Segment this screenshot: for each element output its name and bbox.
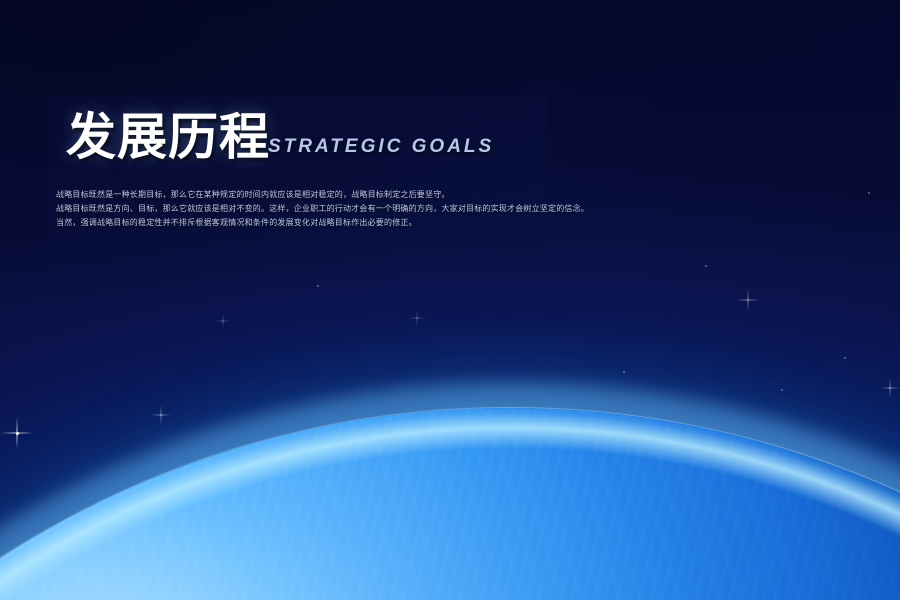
page-title: 发展历程: [66, 112, 270, 162]
earth-surface-texture: [0, 408, 900, 600]
body-line: 当然，强调战略目标的稳定性并不排斥根据客观情况和条件的发展变化对战略目标作出必要…: [56, 216, 556, 230]
headline-group: 发展历程 STRATEGIC GOALS: [66, 112, 494, 162]
earth-terminator-shadow: [0, 408, 900, 600]
earth-limb-glow: [0, 405, 900, 600]
earth-globe: [0, 408, 900, 600]
hero-banner: 发展历程 STRATEGIC GOALS 战略目标既然是一种长期目标，那么它在某…: [0, 0, 900, 600]
body-paragraph: 战略目标既然是一种长期目标，那么它在某种规定的时间内就应该是相对稳定的，战略目标…: [56, 188, 556, 230]
earth-scene: [0, 0, 900, 600]
earth-cloud-layer: [0, 408, 900, 600]
body-line: 战略目标既然是方向、目标，那么它就应该是相对不变的。这样，企业职工的行动才会有一…: [56, 202, 556, 216]
page-subtitle: STRATEGIC GOALS: [268, 136, 494, 158]
body-line: 战略目标既然是一种长期目标，那么它在某种规定的时间内就应该是相对稳定的，战略目标…: [56, 188, 556, 202]
